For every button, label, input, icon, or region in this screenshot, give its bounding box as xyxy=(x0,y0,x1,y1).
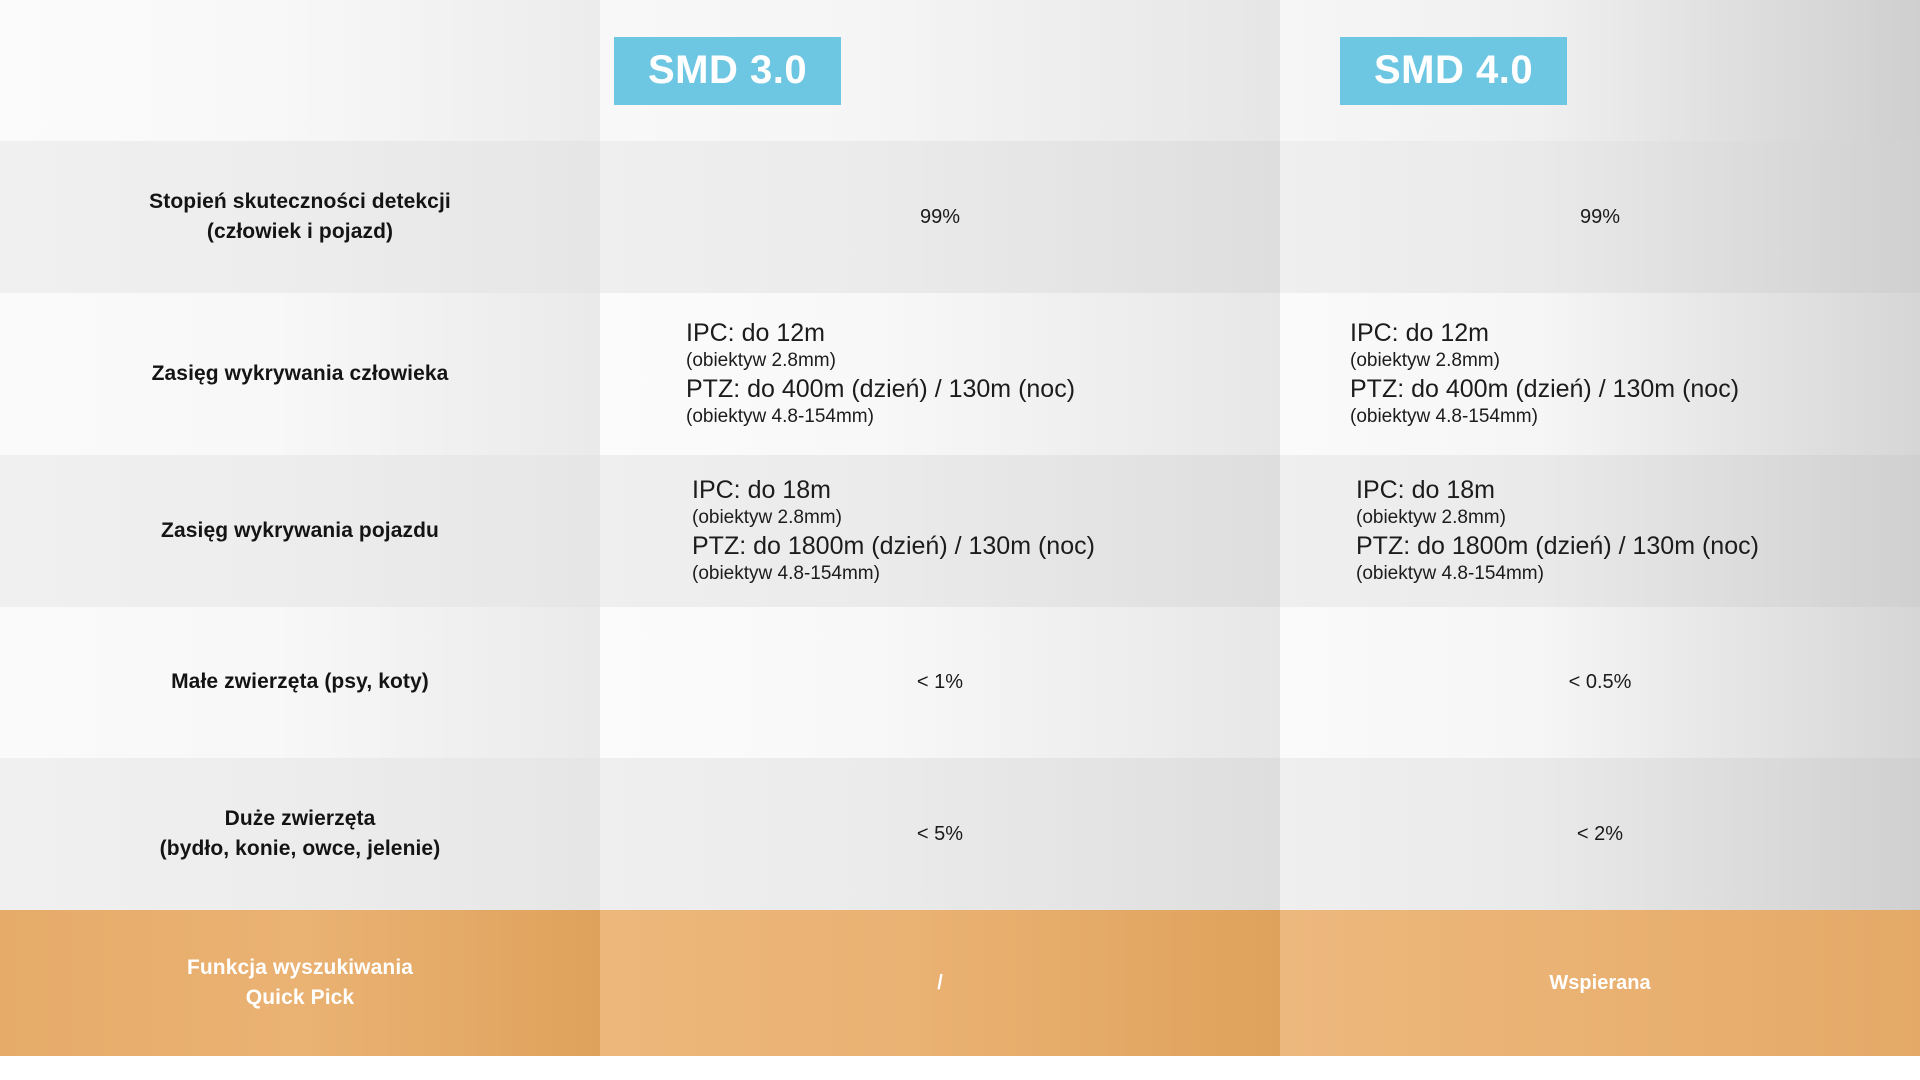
table-row: Małe zwierzęta (psy, koty) < 1% < 0.5% xyxy=(0,607,1920,758)
cell-value-multiline: IPC: do 12m (obiektyw 2.8mm) PTZ: do 400… xyxy=(600,318,1280,430)
value-line: IPC: do 12m xyxy=(686,318,1280,349)
row-label-text: Zasięg wykrywania człowieka xyxy=(0,359,600,389)
row-label-text: Stopień skuteczności detekcji (człowiek … xyxy=(0,187,600,248)
row-label-small-animals: Małe zwierzęta (psy, koty) xyxy=(0,607,600,758)
value-line: PTZ: do 400m (dzień) / 130m (noc) xyxy=(686,374,1280,405)
cell-human-range-smd4: IPC: do 12m (obiektyw 2.8mm) PTZ: do 400… xyxy=(1280,293,1920,455)
cell-value: 99% xyxy=(1280,206,1920,229)
value-line: PTZ: do 1800m (dzień) / 130m (noc) xyxy=(1356,531,1920,562)
cell-value: < 1% xyxy=(600,671,1280,694)
bottom-strip-label xyxy=(0,1056,600,1080)
column-header-badge-smd3: SMD 3.0 xyxy=(614,37,841,105)
value-line: (obiektyw 4.8-154mm) xyxy=(1350,405,1920,430)
header-cell-smd3: SMD 3.0 xyxy=(600,0,1280,141)
value-line: IPC: do 18m xyxy=(1356,475,1920,506)
cell-human-range-smd3: IPC: do 12m (obiektyw 2.8mm) PTZ: do 400… xyxy=(600,293,1280,455)
cell-value: 99% xyxy=(600,206,1280,229)
row-label-human-detection-range: Zasięg wykrywania człowieka xyxy=(0,293,600,455)
cell-value: Wspierana xyxy=(1280,972,1920,995)
row-label-line1: Stopień skuteczności detekcji xyxy=(26,187,574,217)
row-label-line1: Funkcja wyszukiwania xyxy=(26,953,574,983)
cell-small-animals-smd3: < 1% xyxy=(600,607,1280,758)
cell-vehicle-range-smd3: IPC: do 18m (obiektyw 2.8mm) PTZ: do 180… xyxy=(600,455,1280,607)
row-label-line2: Quick Pick xyxy=(26,983,574,1013)
cell-detection-accuracy-smd3: 99% xyxy=(600,141,1280,293)
value-line: PTZ: do 1800m (dzień) / 130m (noc) xyxy=(692,531,1280,562)
cell-value-multiline: IPC: do 18m (obiektyw 2.8mm) PTZ: do 180… xyxy=(1280,475,1920,587)
smd-comparison-table: SMD 3.0 SMD 4.0 Stopień skuteczności det… xyxy=(0,0,1920,1080)
value-line: PTZ: do 400m (dzień) / 130m (noc) xyxy=(1350,374,1920,405)
cell-value: < 2% xyxy=(1280,823,1920,846)
cell-value-multiline: IPC: do 12m (obiektyw 2.8mm) PTZ: do 400… xyxy=(1280,318,1920,430)
bottom-strip-smd4 xyxy=(1280,1056,1920,1080)
value-line: (obiektyw 2.8mm) xyxy=(692,506,1280,531)
row-label-quick-pick: Funkcja wyszukiwania Quick Pick xyxy=(0,910,600,1056)
cell-value: < 0.5% xyxy=(1280,671,1920,694)
value-line: IPC: do 18m xyxy=(692,475,1280,506)
value-line: IPC: do 12m xyxy=(1350,318,1920,349)
row-label-line2: (bydło, konie, owce, jelenie) xyxy=(26,834,574,864)
row-label-large-animals: Duże zwierzęta (bydło, konie, owce, jele… xyxy=(0,758,600,910)
row-label-line1: Duże zwierzęta xyxy=(26,804,574,834)
header-cell-smd4: SMD 4.0 xyxy=(1280,0,1920,141)
header-cell-empty xyxy=(0,0,600,141)
badge-wrap-smd4: SMD 4.0 xyxy=(1280,0,1920,141)
badge-wrap-smd3: SMD 3.0 xyxy=(600,0,1280,141)
value-line: (obiektyw 4.8-154mm) xyxy=(1356,562,1920,587)
table-row: Zasięg wykrywania pojazdu IPC: do 18m (o… xyxy=(0,455,1920,607)
table-row: Stopień skuteczności detekcji (człowiek … xyxy=(0,141,1920,293)
cell-value: / xyxy=(600,972,1280,995)
row-label-text: Funkcja wyszukiwania Quick Pick xyxy=(0,953,600,1014)
column-header-badge-smd4: SMD 4.0 xyxy=(1340,37,1567,105)
row-label-vehicle-detection-range: Zasięg wykrywania pojazdu xyxy=(0,455,600,607)
table-header-row: SMD 3.0 SMD 4.0 xyxy=(0,0,1920,141)
row-label-line1: Małe zwierzęta (psy, koty) xyxy=(26,667,574,697)
cell-small-animals-smd4: < 0.5% xyxy=(1280,607,1920,758)
bottom-strip-smd3 xyxy=(600,1056,1280,1080)
value-line: (obiektyw 2.8mm) xyxy=(1350,349,1920,374)
row-label-text: Duże zwierzęta (bydło, konie, owce, jele… xyxy=(0,804,600,865)
row-label-line2: (człowiek i pojazd) xyxy=(26,217,574,247)
cell-value: < 5% xyxy=(600,823,1280,846)
cell-quick-pick-smd3: / xyxy=(600,910,1280,1056)
row-label-line1: Zasięg wykrywania pojazdu xyxy=(26,516,574,546)
table-row: Duże zwierzęta (bydło, konie, owce, jele… xyxy=(0,758,1920,910)
row-label-text: Małe zwierzęta (psy, koty) xyxy=(0,667,600,697)
table-row: Zasięg wykrywania człowieka IPC: do 12m … xyxy=(0,293,1920,455)
cell-quick-pick-smd4: Wspierana xyxy=(1280,910,1920,1056)
value-line: (obiektyw 2.8mm) xyxy=(686,349,1280,374)
row-label-text: Zasięg wykrywania pojazdu xyxy=(0,516,600,546)
table-row-highlighted: Funkcja wyszukiwania Quick Pick / Wspier… xyxy=(0,910,1920,1056)
value-line: (obiektyw 4.8-154mm) xyxy=(686,405,1280,430)
value-line: (obiektyw 2.8mm) xyxy=(1356,506,1920,531)
row-label-line1: Zasięg wykrywania człowieka xyxy=(26,359,574,389)
cell-detection-accuracy-smd4: 99% xyxy=(1280,141,1920,293)
value-line: (obiektyw 4.8-154mm) xyxy=(692,562,1280,587)
cell-large-animals-smd4: < 2% xyxy=(1280,758,1920,910)
cell-value-multiline: IPC: do 18m (obiektyw 2.8mm) PTZ: do 180… xyxy=(600,475,1280,587)
cell-large-animals-smd3: < 5% xyxy=(600,758,1280,910)
row-label-detection-accuracy: Stopień skuteczności detekcji (człowiek … xyxy=(0,141,600,293)
cell-vehicle-range-smd4: IPC: do 18m (obiektyw 2.8mm) PTZ: do 180… xyxy=(1280,455,1920,607)
table-bottom-strip xyxy=(0,1056,1920,1080)
